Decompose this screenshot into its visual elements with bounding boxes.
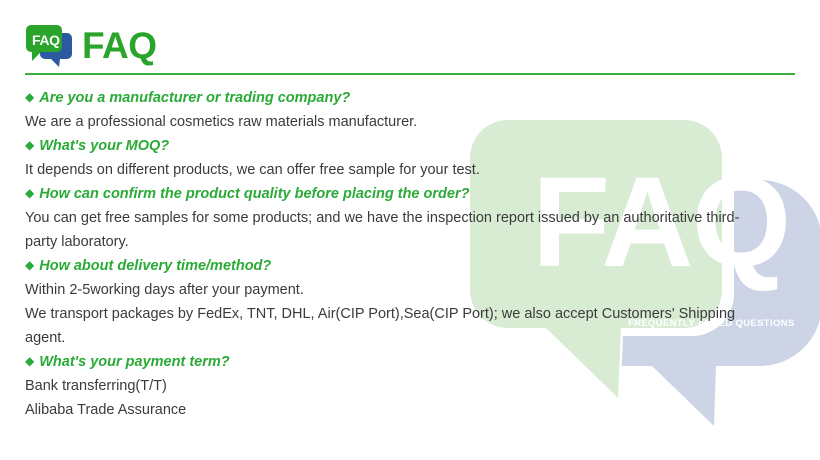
faq-item: ◆What's your MOQ?It depends on different… [25,134,800,182]
faq-answer: Alibaba Trade Assurance [25,398,765,422]
header-divider [25,73,795,75]
faq-item: ◆What's your payment term?Bank transferr… [25,350,800,422]
faq-question-text: How about delivery time/method? [39,258,271,274]
faq-list: ◆Are you a manufacturer or trading compa… [25,86,800,422]
faq-answer: It depends on different products, we can… [25,158,765,182]
faq-item: ◆How can confirm the product quality bef… [25,182,800,254]
faq-question-text: What's your MOQ? [39,138,169,154]
faq-question[interactable]: ◆Are you a manufacturer or trading compa… [25,86,800,110]
faq-logo-icon: FAQ [25,23,73,67]
diamond-bullet-icon: ◆ [25,354,34,368]
faq-question[interactable]: ◆How can confirm the product quality bef… [25,182,800,206]
faq-question-text: How can confirm the product quality befo… [39,186,469,202]
faq-question-text: Are you a manufacturer or trading compan… [39,90,350,106]
diamond-bullet-icon: ◆ [25,90,34,104]
faq-question[interactable]: ◆How about delivery time/method? [25,254,800,278]
faq-page: FAQ FREQUENTLY ASKED QUESTIONS FAQ FAQ ◆… [0,0,820,460]
faq-item: ◆Are you a manufacturer or trading compa… [25,86,800,134]
faq-answer: You can get free samples for some produc… [25,206,765,254]
faq-question[interactable]: ◆What's your payment term? [25,350,800,374]
faq-answer: Within 2-5working days after your paymen… [25,278,765,302]
faq-answer: We are a professional cosmetics raw mate… [25,110,765,134]
faq-answer: Bank transferring(T/T) [25,374,765,398]
logo-faq-text: FAQ [32,32,60,48]
diamond-bullet-icon: ◆ [25,138,34,152]
faq-item: ◆How about delivery time/method?Within 2… [25,254,800,350]
faq-header: FAQ FAQ [0,0,820,76]
diamond-bullet-icon: ◆ [25,186,34,200]
faq-answer: We transport packages by FedEx, TNT, DHL… [25,302,765,350]
faq-question[interactable]: ◆What's your MOQ? [25,134,800,158]
faq-question-text: What's your payment term? [39,354,229,370]
page-title: FAQ [82,24,157,68]
diamond-bullet-icon: ◆ [25,258,34,272]
